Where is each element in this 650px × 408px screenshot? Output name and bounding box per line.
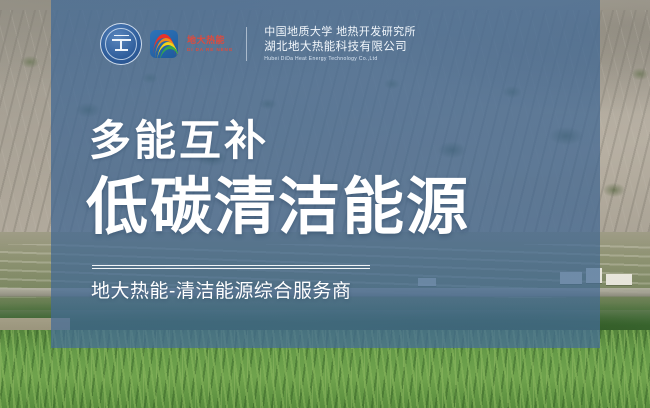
brand-wordmark: 地大热能 DI DA RE NENG	[187, 35, 233, 53]
brand-name-pinyin: DI DA RE NENG	[187, 46, 233, 53]
org-line-institute: 中国地质大学 地热开发研究所	[264, 25, 416, 40]
org-line-english: Hubei DiDa Heat Energy Technology Co.,Lt…	[264, 55, 416, 64]
rainbow-square-logo-icon	[150, 30, 178, 58]
org-line-company: 湖北地大热能科技有限公司	[264, 40, 416, 55]
rainbow-arc-icon	[153, 34, 175, 55]
promotional-banner: 地大热能 DI DA RE NENG 中国地质大学 地热开发研究所 湖北地大热能…	[0, 0, 650, 408]
headline-main: 低碳清洁能源	[86, 169, 470, 247]
organization-text: 中国地质大学 地热开发研究所 湖北地大热能科技有限公司 Hubei DiDa H…	[264, 25, 416, 64]
headline-divider	[92, 265, 370, 269]
university-seal-icon	[100, 23, 142, 65]
banner-content: 地大热能 DI DA RE NENG 中国地质大学 地热开发研究所 湖北地大热能…	[0, 0, 650, 408]
seal-inner-glyph	[112, 35, 131, 54]
headline-tagline: 地大热能-清洁能源综合服务商	[91, 279, 351, 305]
vertical-divider-icon	[246, 27, 247, 61]
logo-bar: 地大热能 DI DA RE NENG 中国地质大学 地热开发研究所 湖北地大热能…	[100, 23, 416, 65]
headline-kicker: 多能互补	[89, 115, 269, 167]
brand-name-cn: 地大热能	[187, 35, 233, 46]
